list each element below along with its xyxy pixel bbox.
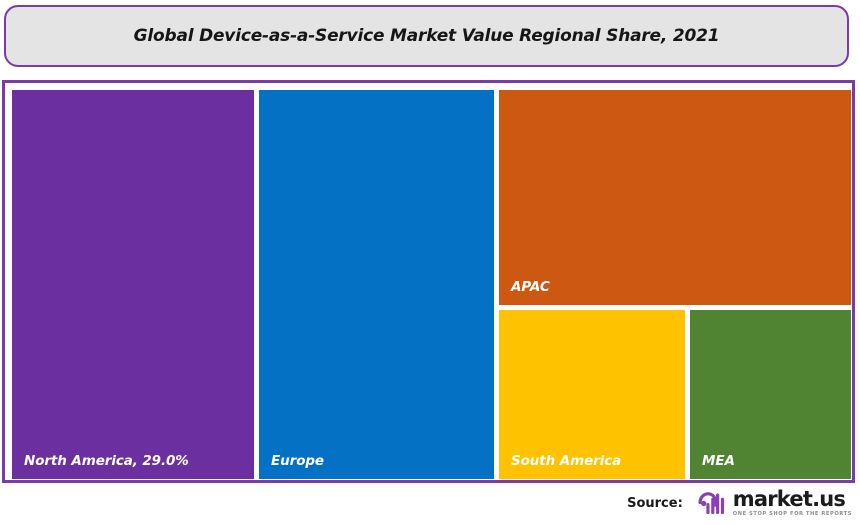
treemap-tile-mea[interactable]: MEA xyxy=(690,310,851,479)
page-title: Global Device-as-a-Service Market Value … xyxy=(134,26,720,46)
treemap-tile-label-north-america: North America, 29.0% xyxy=(24,453,189,469)
treemap-plot-area: North America, 29.0% Europe APAC South A… xyxy=(5,83,858,486)
chart-figure: Global Device-as-a-Service Market Value … xyxy=(0,0,860,525)
logo-text-block: market.us ONE STOP SHOP FOR THE REPORTS xyxy=(733,489,852,517)
treemap-tile-apac[interactable]: APAC xyxy=(499,90,851,305)
logo-wordmark: market.us xyxy=(733,489,845,510)
treemap-tile-europe[interactable]: Europe xyxy=(259,90,494,479)
treemap-tile-label-mea: MEA xyxy=(702,453,735,469)
treemap-tile-label-south-america: South America xyxy=(511,453,621,469)
market-us-logo[interactable]: market.us ONE STOP SHOP FOR THE REPORTS xyxy=(697,489,852,517)
treemap-tile-label-europe: Europe xyxy=(271,453,324,469)
footer: Source: market.us ONE STOP SHOP FOR THE … xyxy=(0,487,860,525)
treemap-tile-label-apac: APAC xyxy=(511,279,550,295)
treemap-tile-north-america[interactable]: North America, 29.0% xyxy=(12,90,254,479)
source-row: Source: market.us ONE STOP SHOP FOR THE … xyxy=(627,489,852,517)
logo-tagline: ONE STOP SHOP FOR THE REPORTS xyxy=(733,512,852,517)
chart-title-box: Global Device-as-a-Service Market Value … xyxy=(4,5,849,67)
source-label: Source: xyxy=(627,496,683,511)
market-us-logo-icon xyxy=(697,489,727,517)
treemap-frame: North America, 29.0% Europe APAC South A… xyxy=(2,80,855,483)
treemap-tile-south-america[interactable]: South America xyxy=(499,310,685,479)
